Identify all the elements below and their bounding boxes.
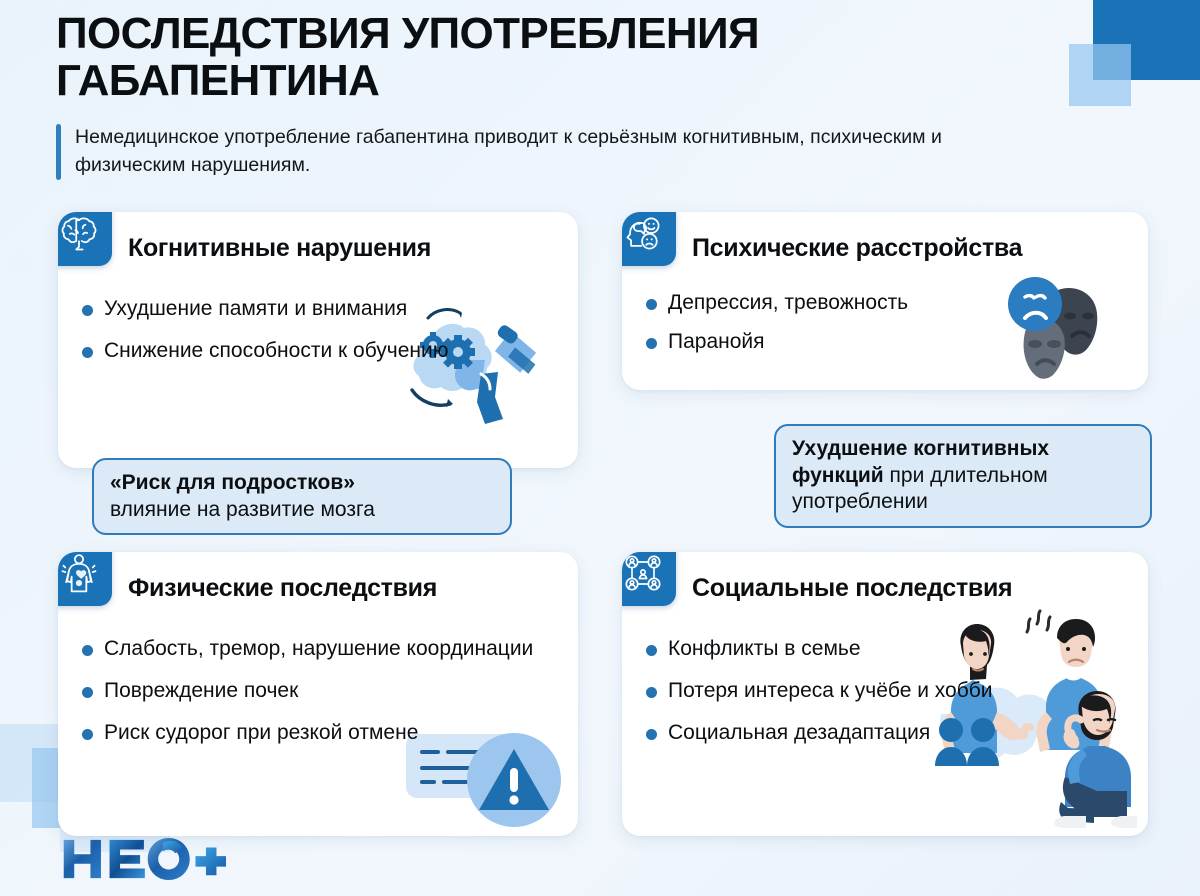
callout-teen-rest: влияние на развитие мозга (110, 497, 494, 524)
card-title-mental: Психические расстройства (692, 234, 1022, 263)
bullet-list-physical: Слабость, тремор, нарушение координации … (82, 636, 566, 762)
intro-text: Немедицинское употребление габапентина п… (75, 124, 1015, 179)
bullet-dot-icon (646, 645, 657, 656)
bullet-text: Депрессия, тревожность (668, 290, 908, 317)
bullet-dot-icon (82, 687, 93, 698)
bullet-text: Риск судорог при резкой отмене (104, 720, 418, 747)
header: ПОСЛЕДСТВИЯ УПОТРЕБЛЕНИЯ ГАБАПЕНТИНА Нем… (56, 10, 1056, 180)
card-title-physical: Физические последствия (128, 574, 437, 603)
bullet-list-cognitive: Ухудшение памяти и внимания Снижение спо… (82, 296, 566, 380)
intro-block: Немедицинское употребление габапентина п… (56, 124, 1056, 179)
list-item: Повреждение почек (82, 678, 566, 705)
bullet-text: Слабость, тремор, нарушение координации (104, 636, 533, 663)
bullet-list-mental: Депрессия, тревожность Паранойя (646, 290, 1136, 368)
bullet-text: Социальная дезадаптация (668, 720, 930, 747)
list-item: Социальная дезадаптация (646, 720, 1136, 747)
bullet-dot-icon (82, 347, 93, 358)
callout-teen-bold: «Риск для подростков» (110, 470, 494, 497)
list-item: Слабость, тремор, нарушение координации (82, 636, 566, 663)
bullet-text: Паранойя (668, 329, 765, 356)
bullet-text: Потеря интереса к учёбе и хобби (668, 678, 993, 705)
bullet-text: Снижение способности к обучению (104, 338, 448, 365)
list-item: Потеря интереса к учёбе и хобби (646, 678, 1136, 705)
bullet-dot-icon (82, 645, 93, 656)
card-cognitive: Когнитивные нарушения (58, 212, 578, 468)
card-physical: Физические последствия Слабость, тремор,… (58, 552, 578, 836)
card-title-cognitive: Когнитивные нарушения (128, 234, 431, 263)
page-title: ПОСЛЕДСТВИЯ УПОТРЕБЛЕНИЯ ГАБАПЕНТИНА (56, 10, 1056, 104)
bullet-dot-icon (646, 299, 657, 310)
neo-plus-logo-icon (58, 838, 226, 880)
head-emotions-icon (622, 212, 676, 266)
body-organs-icon (58, 552, 112, 606)
brain-icon (58, 212, 112, 266)
brand-logo (58, 838, 226, 880)
bullet-dot-icon (646, 687, 657, 698)
callout-teen-risk: «Риск для подростков» влияние на развити… (92, 458, 512, 535)
decorative-square-top-right-light (1069, 44, 1131, 106)
bullet-text: Повреждение почек (104, 678, 298, 705)
card-social: Социальные последствия (622, 552, 1148, 836)
bullet-text: Ухудшение памяти и внимания (104, 296, 407, 323)
bullet-text: Конфликты в семье (668, 636, 861, 663)
intro-accent-bar (56, 124, 61, 179)
list-item: Ухудшение памяти и внимания (82, 296, 566, 323)
callout-teen-bold-text: «Риск для подростков» (110, 471, 355, 494)
callout-long-term: Ухудшение когнитивных функций при длител… (774, 424, 1152, 528)
list-item: Конфликты в семье (646, 636, 1136, 663)
callout-long-text: Ухудшение когнитивных функций при длител… (792, 436, 1134, 516)
list-item: Снижение способности к обучению (82, 338, 566, 365)
list-item: Депрессия, тревожность (646, 290, 1136, 317)
list-item: Риск судорог при резкой отмене (82, 720, 566, 747)
bullet-dot-icon (82, 729, 93, 740)
bullet-dot-icon (646, 729, 657, 740)
bullet-list-social: Конфликты в семье Потеря интереса к учёб… (646, 636, 1136, 762)
card-mental: Психические расстройства Депрессия, трев… (622, 212, 1148, 390)
bullet-dot-icon (646, 338, 657, 349)
people-network-icon (622, 552, 676, 606)
list-item: Паранойя (646, 329, 1136, 356)
card-title-social: Социальные последствия (692, 574, 1012, 603)
bullet-dot-icon (82, 305, 93, 316)
